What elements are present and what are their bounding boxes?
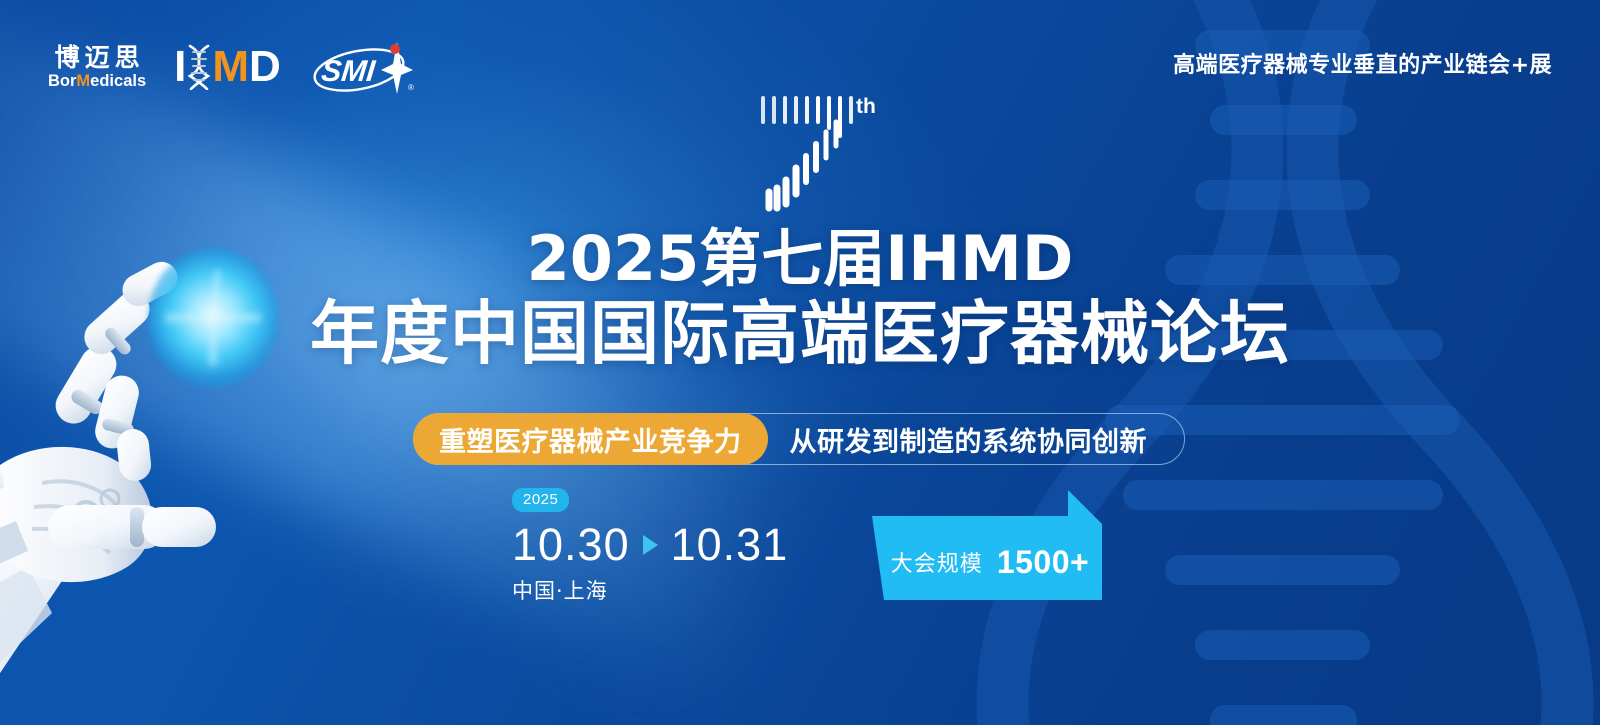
svg-text:SMI: SMI (320, 55, 377, 88)
ihmd-letter-d: D (249, 45, 281, 89)
ihmd-letter-i: I (174, 45, 186, 89)
title-block: 2025第七届IHMD 年度中国国际高端医疗器械论坛 (0, 228, 1600, 373)
bormedicals-en-pre: Bor (48, 72, 76, 90)
subtitle-band: 重塑医疗器械产业竞争力 从研发到制造的系统协同创新 (413, 413, 1147, 465)
scale-label: 大会规模 (891, 546, 983, 578)
logo-bar: 博迈思 BorMedicals I M D (48, 38, 417, 96)
bormedicals-chinese: 博迈思 (50, 45, 145, 70)
scale-flag-banner: 大会规模 1500+ (872, 490, 1102, 600)
bormedicals-en-accent: M (76, 72, 90, 90)
title-line-2: 年度中国国际高端医疗器械论坛 (0, 296, 1600, 373)
edition-mark-7th: th (746, 88, 886, 213)
date-start: 10.30 (512, 519, 630, 571)
scale-value: 1500+ (997, 544, 1089, 581)
title-line-1: 2025第七届IHMD (0, 228, 1600, 290)
date-arrow-icon (643, 535, 658, 555)
date-block: 2025 10.30 10.31 中国·上海 (512, 488, 788, 605)
subtitle-right-text: 从研发到制造的系统协同创新 (790, 420, 1148, 459)
dna-helix-icon (186, 44, 212, 90)
ihmd-letter-m: M (212, 45, 249, 89)
year-badge: 2025 (512, 488, 569, 512)
conference-banner: 博迈思 BorMedicals I M D (0, 0, 1600, 725)
logo-smi: SMI ® (309, 38, 417, 96)
logo-ihmd: I M D (174, 44, 281, 90)
smi-registered-mark: ® (408, 83, 414, 92)
tagline: 高端医疗器械专业垂直的产业链会+展 (1173, 47, 1552, 79)
scale-flag-content: 大会规模 1500+ (872, 490, 1102, 600)
bormedicals-en-post: edicals (90, 72, 146, 90)
bormedicals-english: BorMedicals (48, 73, 146, 90)
subtitle-pill: 重塑医疗器械产业竞争力 (413, 413, 768, 465)
subtitle-pill-text: 重塑医疗器械产业竞争力 (439, 420, 742, 459)
date-range: 10.30 10.31 (512, 519, 788, 571)
edition-mark-suffix: th (856, 95, 876, 119)
date-city: 中国·上海 (512, 575, 788, 605)
date-end: 10.31 (671, 519, 789, 571)
logo-bormedicals: 博迈思 BorMedicals (48, 45, 146, 90)
